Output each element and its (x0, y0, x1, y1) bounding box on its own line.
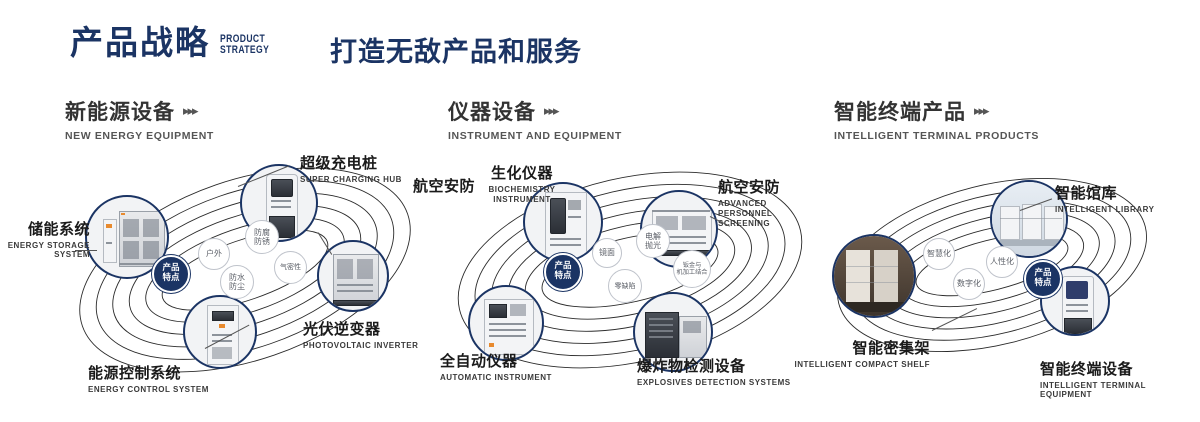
feature-line2: 抛光 (645, 241, 661, 250)
caption-cn: 航空安防 (413, 175, 475, 196)
caption-library: 智能馆库 INTELLIGENT LIBRARY (1055, 182, 1154, 214)
node-bubble-pv-inverter[interactable] (317, 240, 389, 312)
node-bubble-energy-control[interactable] (183, 295, 257, 369)
caption-biochemistry: 生化仪器 BIOCHEMISTRY INSTRUMENT (470, 162, 574, 204)
feature-bubble-mirror[interactable]: 镜面 (592, 238, 622, 268)
page-title-block: 产品战略 PRODUCT STRATEGY (70, 26, 283, 59)
section-heading-instrument: 仪器设备▸▸▸ INSTRUMENT AND EQUIPMENT (448, 96, 622, 142)
cluster-new-energy: 产品 特点 户外 防腐防锈 防水防尘 气密性 (55, 150, 435, 390)
caption-aviation-security-left: 航空安防 (413, 175, 475, 196)
caption-cn: 超级充电桩 (300, 152, 402, 173)
feature-line1: 人性化 (990, 257, 1014, 266)
feature-bubble-anticorrosion[interactable]: 防腐防锈 (245, 220, 279, 254)
caption-cn: 智能馆库 (1055, 182, 1154, 203)
caption-en: ADVANCED PERSONNEL SCREENING (718, 199, 818, 229)
chevrons-icon: ▸▸▸ (544, 103, 558, 119)
section-heading-new-energy: 新能源设备▸▸▸ NEW ENERGY EQUIPMENT (65, 96, 214, 142)
feature-line1: 气密性 (280, 263, 301, 271)
caption-cn: 光伏逆变器 (303, 318, 418, 339)
feature-bubble-zero-defect[interactable]: 零缺陷 (608, 269, 642, 303)
feature-bubble-sheetmetal-machining[interactable]: 钣金与机加工结合 (673, 250, 711, 288)
page-title-cn: 产品战略 (70, 26, 210, 59)
feature-line1: 镜面 (599, 248, 615, 257)
feature-line1: 数字化 (957, 279, 981, 288)
product-strategy-infographic: 产品战略 PRODUCT STRATEGY 打造无敌产品和服务 新能源设备▸▸▸… (0, 0, 1200, 422)
feature-bubble-electropolishing[interactable]: 电解抛光 (636, 224, 670, 258)
core-bubble-product-features[interactable]: 产品 特点 (544, 253, 582, 291)
caption-energy-storage: 储能系统 ENERGY STORAGE SYSTEM (0, 218, 90, 259)
core-line2: 特点 (162, 274, 179, 284)
caption-automatic-instrument: 全自动仪器 AUTOMATIC INSTRUMENT (440, 350, 552, 382)
feature-line2: 防锈 (254, 237, 270, 246)
feature-bubble-humanized[interactable]: 人性化 (986, 246, 1018, 278)
page-title-en: PRODUCT STRATEGY (220, 34, 269, 57)
section-title-en: INTELLIGENT TERMINAL PRODUCTS (834, 130, 1039, 142)
core-line2: 特点 (554, 272, 571, 282)
feature-line1: 钣金与 (677, 262, 708, 269)
feature-line2: 防尘 (229, 282, 245, 291)
caption-en: INTELLIGENT LIBRARY (1055, 205, 1154, 214)
caption-en: INTELLIGENT COMPACT SHELF (790, 360, 930, 370)
caption-en: EXPLOSIVES DETECTION SYSTEMS (637, 378, 791, 387)
feature-bubble-airtight[interactable]: 气密性 (274, 251, 307, 284)
caption-cn: 爆炸物检测设备 (637, 355, 791, 376)
core-line2: 特点 (1034, 279, 1051, 289)
feature-line1: 户外 (206, 249, 222, 258)
section-title-en: INSTRUMENT AND EQUIPMENT (448, 130, 622, 142)
feature-line1: 电解 (645, 232, 661, 241)
feature-line1: 智慧化 (927, 249, 951, 258)
caption-en: PHOTOVOLTAIC INVERTER (303, 341, 418, 350)
chevrons-icon: ▸▸▸ (974, 103, 988, 119)
node-bubble-compact-shelf[interactable] (832, 234, 916, 318)
page-title-en-line2: STRATEGY (220, 45, 269, 57)
caption-en: ENERGY CONTROL SYSTEM (88, 385, 209, 394)
caption-energy-control: 能源控制系统 ENERGY CONTROL SYSTEM (88, 362, 209, 394)
caption-screening: 航空安防 ADVANCED PERSONNEL SCREENING (718, 176, 818, 229)
caption-cn: 航空安防 (718, 176, 818, 197)
core-bubble-product-features[interactable]: 产品 特点 (152, 255, 190, 293)
automatic-instrument-icon (470, 287, 542, 359)
caption-cn: 能源控制系统 (88, 362, 209, 383)
feature-line2: 机加工结合 (677, 269, 708, 276)
feature-line1: 防腐 (254, 228, 270, 237)
feature-bubble-intelligent[interactable]: 智慧化 (923, 238, 955, 270)
page-title-en-line1: PRODUCT (220, 34, 269, 46)
caption-cn: 智能密集架 (790, 337, 930, 358)
caption-cn: 全自动仪器 (440, 350, 552, 371)
leader-line (75, 250, 97, 251)
section-title-en: NEW ENERGY EQUIPMENT (65, 130, 214, 142)
caption-en: AUTOMATIC INSTRUMENT (440, 373, 552, 382)
caption-cn: 生化仪器 (470, 162, 574, 183)
caption-en: SUPER CHARGING HUB (300, 175, 402, 184)
caption-terminal-equipment: 智能终端设备 INTELLIGENT TERMINAL EQUIPMENT (1040, 358, 1200, 399)
control-cabinet-icon (185, 297, 255, 367)
core-bubble-product-features[interactable]: 产品 特点 (1024, 260, 1062, 298)
feature-line1: 防水 (229, 273, 245, 282)
caption-cn: 智能终端设备 (1040, 358, 1200, 379)
page-subtitle: 打造无敌产品和服务 (330, 30, 582, 69)
feature-bubble-outdoor[interactable]: 户外 (198, 238, 230, 270)
caption-en: INTELLIGENT TERMINAL EQUIPMENT (1040, 381, 1200, 399)
section-title-cn: 智能终端产品 (834, 96, 966, 126)
section-heading-intelligent-terminal: 智能终端产品▸▸▸ INTELLIGENT TERMINAL PRODUCTS (834, 96, 1039, 142)
caption-en: BIOCHEMISTRY INSTRUMENT (470, 185, 574, 204)
section-title-cn: 仪器设备 (448, 96, 536, 126)
chevrons-icon: ▸▸▸ (183, 103, 197, 119)
caption-explosives-detector: 爆炸物检测设备 EXPLOSIVES DETECTION SYSTEMS (637, 355, 791, 387)
compact-shelf-icon (834, 236, 914, 316)
feature-bubble-waterproof[interactable]: 防水防尘 (220, 265, 254, 299)
caption-compact-shelf: 智能密集架 INTELLIGENT COMPACT SHELF (790, 337, 930, 370)
caption-charging-hub: 超级充电桩 SUPER CHARGING HUB (300, 152, 402, 184)
feature-bubble-digital[interactable]: 数字化 (953, 268, 985, 300)
section-title-cn: 新能源设备 (65, 96, 175, 126)
caption-cn: 储能系统 (0, 218, 90, 239)
feature-line1: 零缺陷 (615, 282, 636, 290)
caption-pv-inverter: 光伏逆变器 PHOTOVOLTAIC INVERTER (303, 318, 418, 350)
